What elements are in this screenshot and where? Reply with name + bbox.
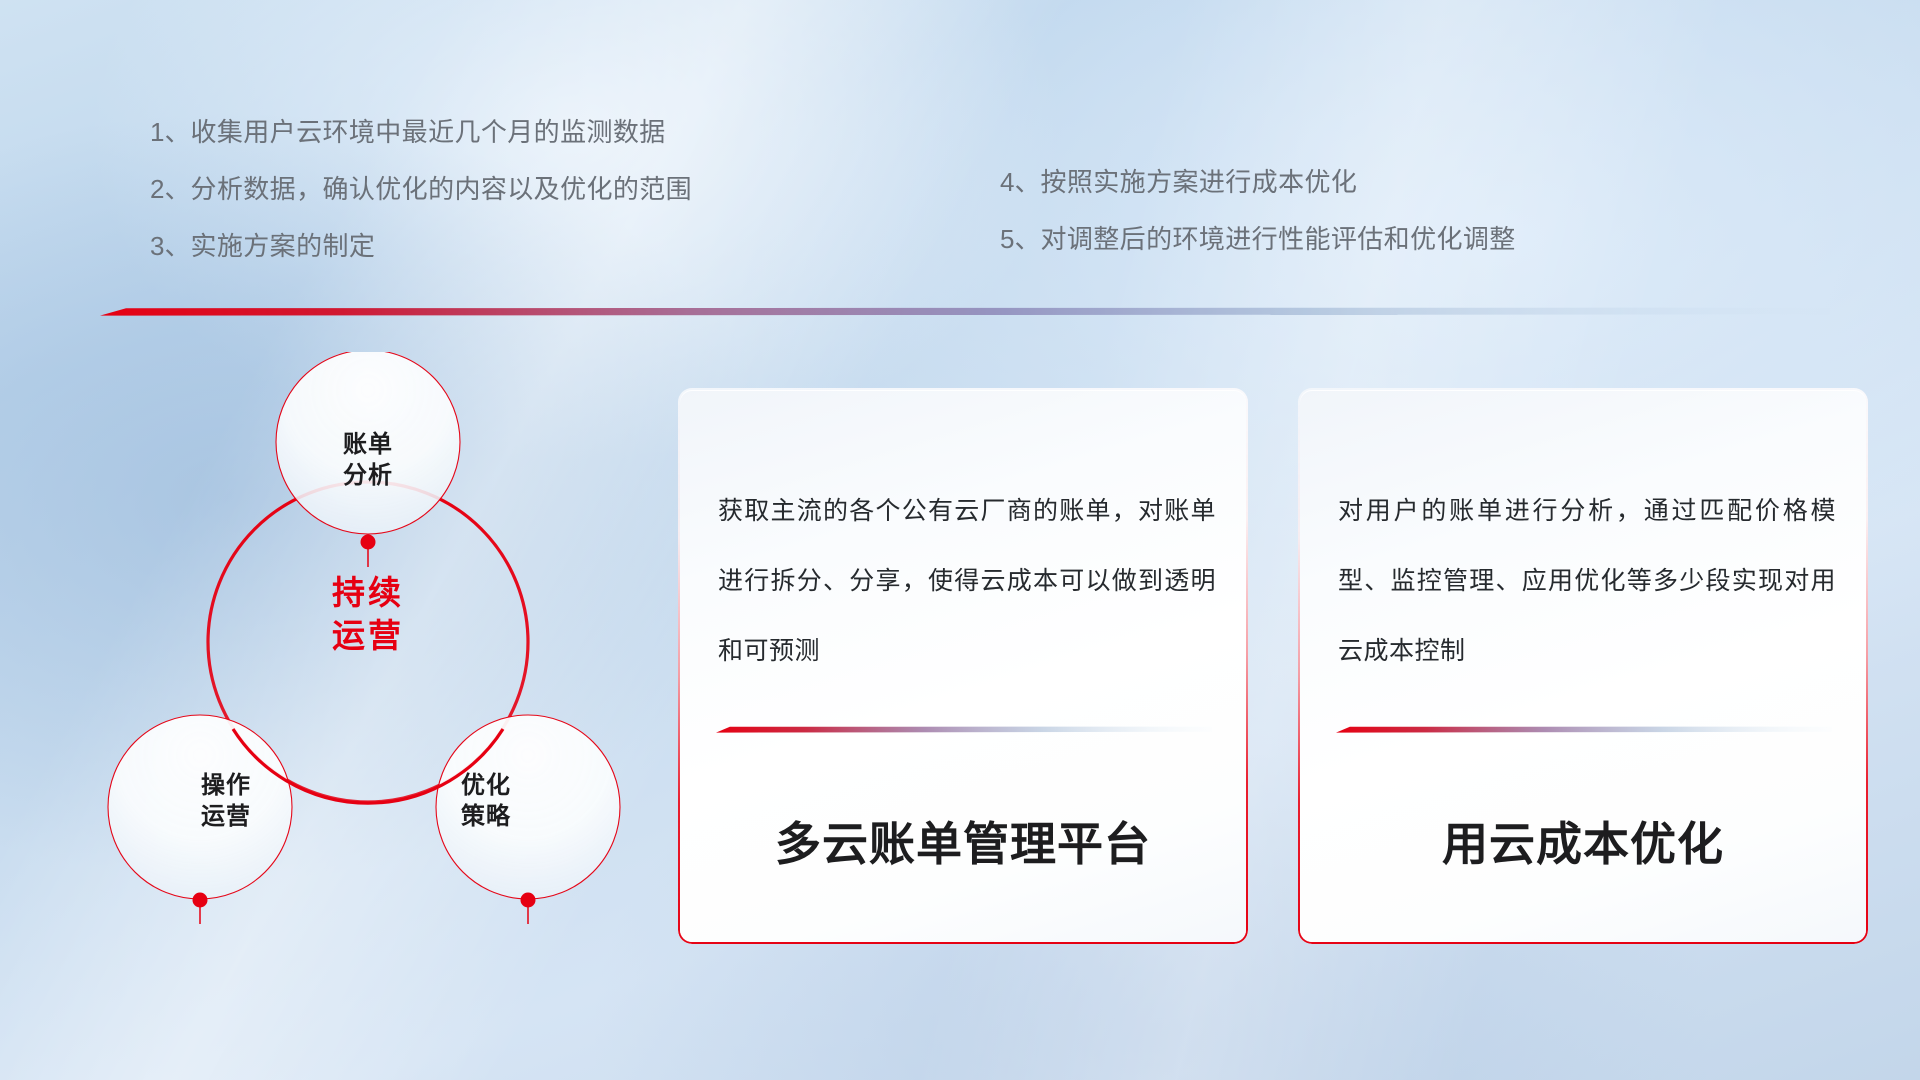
list-item-text: 收集用户云环境中最近几个月的监测数据 <box>190 117 665 147</box>
node-dot-left <box>193 893 208 908</box>
slide-canvas: 1、收集用户云环境中最近几个月的监测数据 2、分析数据，确认优化的内容以及优化的… <box>0 0 1920 1080</box>
bubble-label-line2: 分析 <box>278 460 458 491</box>
continuous-operation-diagram: 账单 分析 操作 运营 优化 策略 持续 运营 <box>88 352 648 932</box>
list-item: 2、分析数据，确认优化的内容以及优化的范围 <box>150 161 692 218</box>
list-item: 1、收集用户云环境中最近几个月的监测数据 <box>150 104 692 161</box>
list-item-number: 3、 <box>150 231 190 261</box>
bubble-label-line2: 策略 <box>406 801 566 832</box>
bubble-label-line1: 优化 <box>406 770 566 801</box>
venn-center-label: 持续 运营 <box>258 571 478 657</box>
steps-list-left: 1、收集用户云环境中最近几个月的监测数据 2、分析数据，确认优化的内容以及优化的… <box>150 104 692 275</box>
list-item-number: 4、 <box>1000 167 1040 197</box>
venn-center-line2: 运营 <box>258 614 478 657</box>
card-description: 获取主流的各个公有云厂商的账单，对账单进行拆分、分享，使得云成本可以做到透明和可… <box>718 476 1216 686</box>
bubble-label-line1: 账单 <box>278 429 458 460</box>
steps-list-right: 4、按照实施方案进行成本优化 5、对调整后的环境进行性能评估和优化调整 <box>1000 154 1516 268</box>
card-description: 对用户的账单进行分析，通过匹配价格模型、监控管理、应用优化等多少段实现对用云成本… <box>1338 476 1836 686</box>
list-item: 4、按照实施方案进行成本优化 <box>1000 154 1516 211</box>
list-item: 3、实施方案的制定 <box>150 218 692 275</box>
list-item-text: 分析数据，确认优化的内容以及优化的范围 <box>190 174 692 204</box>
bubble-label-top: 账单 分析 <box>278 429 458 491</box>
feature-card-cloud-cost-optimization[interactable]: 对用户的账单进行分析，通过匹配价格模型、监控管理、应用优化等多少段实现对用云成本… <box>1298 388 1868 944</box>
feature-card-multicloud-billing[interactable]: 获取主流的各个公有云厂商的账单，对账单进行拆分、分享，使得云成本可以做到透明和可… <box>678 388 1248 944</box>
bubble-label-line2: 运营 <box>146 801 306 832</box>
card-accent-rule <box>1336 726 1832 733</box>
bubble-label-left: 操作 运营 <box>146 770 306 832</box>
list-item-number: 5、 <box>1000 224 1040 254</box>
bubble-label-line1: 操作 <box>146 770 306 801</box>
card-accent-rule <box>716 726 1212 733</box>
list-item-text: 对调整后的环境进行性能评估和优化调整 <box>1040 224 1515 254</box>
venn-center-line1: 持续 <box>258 571 478 614</box>
node-dot-right <box>521 893 536 908</box>
list-item-text: 按照实施方案进行成本优化 <box>1040 167 1357 197</box>
list-item-number: 2、 <box>150 174 190 204</box>
section-divider <box>100 307 1830 316</box>
card-title: 用云成本优化 <box>1300 808 1866 874</box>
card-inner: 对用户的账单进行分析，通过匹配价格模型、监控管理、应用优化等多少段实现对用云成本… <box>1300 390 1866 942</box>
list-item-number: 1、 <box>150 117 190 147</box>
card-title: 多云账单管理平台 <box>680 808 1246 874</box>
list-item: 5、对调整后的环境进行性能评估和优化调整 <box>1000 211 1516 268</box>
bubble-label-right: 优化 策略 <box>406 770 566 832</box>
list-item-text: 实施方案的制定 <box>190 231 375 261</box>
card-inner: 获取主流的各个公有云厂商的账单，对账单进行拆分、分享，使得云成本可以做到透明和可… <box>680 390 1246 942</box>
node-dot-top <box>361 535 376 550</box>
